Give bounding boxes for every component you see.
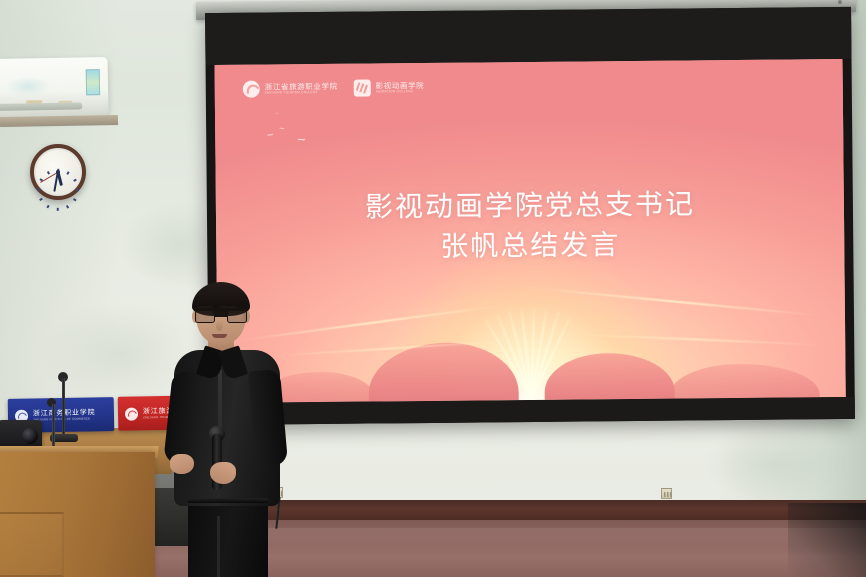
presenter-left-hand xyxy=(170,454,194,474)
ac-vent xyxy=(0,102,82,110)
air-conditioner xyxy=(0,57,109,119)
presenter xyxy=(168,286,286,577)
presenter-mouth xyxy=(212,334,227,338)
presenter-belt xyxy=(188,498,268,503)
institute-logo-secondary: 影视动画学院 ANIMATION COLLEGE xyxy=(354,79,425,97)
institute-logo-primary: 浙江省旅游职业学院 ZHEJIANG TOURISM COLLEGE xyxy=(243,80,338,98)
clock-center-pin xyxy=(56,170,60,174)
eyeglass-lens xyxy=(195,310,215,323)
ac-shelf xyxy=(0,115,118,127)
table-microphone-stem xyxy=(62,378,65,438)
slide-title: 影视动画学院党总支书记 张帆总结发言 xyxy=(216,183,845,269)
clock-face xyxy=(36,150,80,194)
ac-sticker xyxy=(86,69,100,95)
foreground-shadow xyxy=(788,503,866,577)
presenter-legs xyxy=(188,500,268,577)
screen-top-border xyxy=(205,7,851,65)
mountain-silhouette xyxy=(670,363,820,398)
bird-decorations: ~ ~ ~ ~ xyxy=(263,112,373,153)
bird-icon: ~ xyxy=(275,110,279,117)
presentation-slide: 浙江省旅游职业学院 ZHEJIANG TOURISM COLLEGE 影视动画学… xyxy=(215,59,846,403)
slide-title-line1: 影视动画学院党总支书记 xyxy=(216,183,844,229)
camera-lens-icon xyxy=(22,428,38,444)
housing-screw xyxy=(838,0,842,4)
wall-clock xyxy=(30,144,86,200)
eyeglass-lens xyxy=(227,310,247,323)
logo-primary-en: ZHEJIANG TOURISM COLLEGE xyxy=(265,91,338,95)
slide-title-line2: 张帆总结发言 xyxy=(216,223,844,269)
lecture-hall-scene: 浙江省旅游职业学院 ZHEJIANG TOURISM COLLEGE 影视动画学… xyxy=(0,0,866,577)
lectern-front-panel xyxy=(0,512,64,577)
wall-socket xyxy=(661,488,672,499)
projection-screen[interactable]: 浙江省旅游职业学院 ZHEJIANG TOURISM COLLEGE 影视动画学… xyxy=(205,7,855,425)
bird-icon: ~ xyxy=(297,132,306,147)
eyeglass-bridge xyxy=(215,315,227,317)
swirl-logo-icon xyxy=(243,81,260,98)
placard-red-logo-icon xyxy=(125,407,138,420)
bird-icon: ~ xyxy=(279,124,285,133)
ac-panel-tint xyxy=(6,76,50,97)
slide-logo-group: 浙江省旅游职业学院 ZHEJIANG TOURISM COLLEGE 影视动画学… xyxy=(243,79,425,98)
presenter-right-hand xyxy=(210,462,236,484)
presenter-leg-seam xyxy=(217,516,220,577)
logo-secondary-en: ANIMATION COLLEGE xyxy=(376,90,425,94)
presenter-nose xyxy=(216,320,223,331)
film-logo-icon xyxy=(354,80,371,97)
bird-icon: ~ xyxy=(266,130,275,142)
